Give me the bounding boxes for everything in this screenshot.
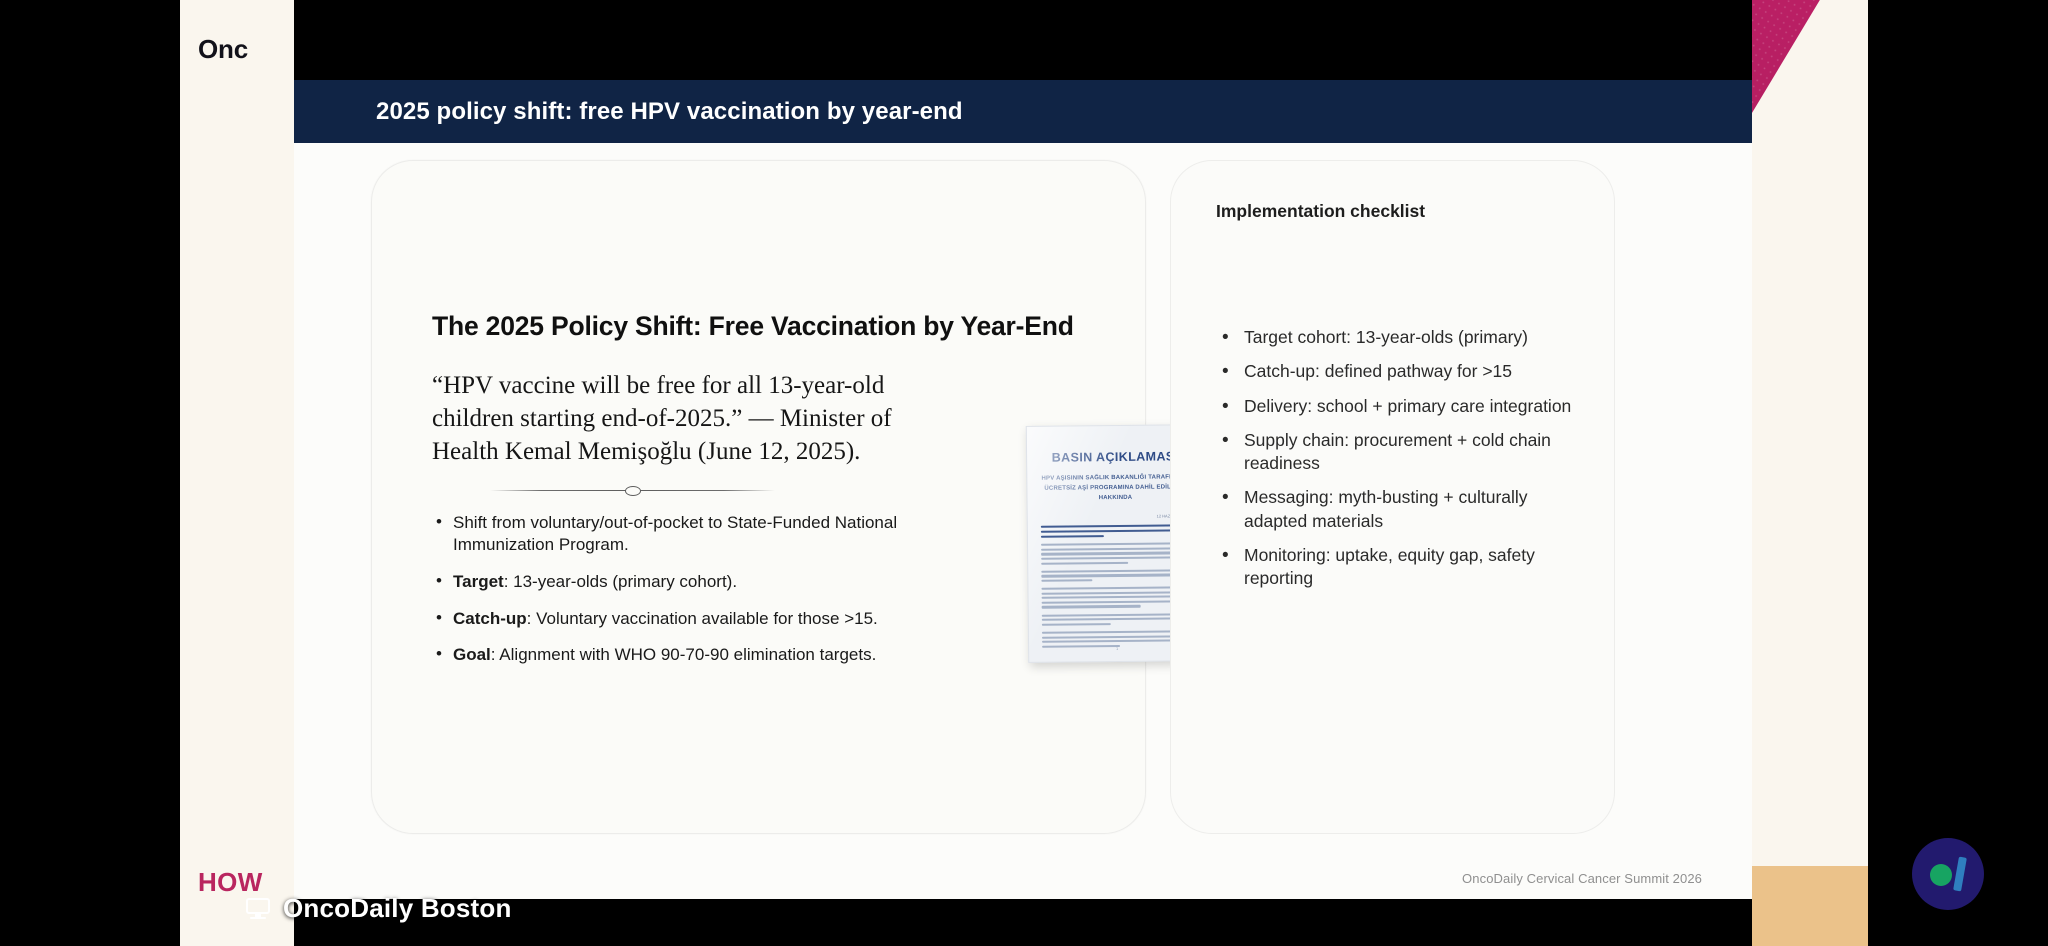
document-date: 12 HAZİRAN 2025 <box>1042 513 1190 520</box>
list-item: Catch-up: Voluntary vaccination availabl… <box>432 608 992 631</box>
list-item: Catch-up: defined pathway for >15 <box>1216 360 1576 383</box>
bullet-text: : 13-year-olds (primary cohort). <box>504 572 737 591</box>
list-item: Messaging: myth-busting + culturally ada… <box>1216 486 1576 533</box>
presentation-slide: 2025 policy shift: free HPV vaccination … <box>294 80 1752 899</box>
slide-footer-text: OncoDaily Cervical Cancer Summit 2026 <box>1462 871 1702 886</box>
list-item: Target: 13-year-olds (primary cohort). <box>432 571 992 594</box>
list-item: Delivery: school + primary care integrat… <box>1216 395 1576 418</box>
list-item: Monitoring: uptake, equity gap, safety r… <box>1216 544 1576 591</box>
oncodaily-logo-icon[interactable] <box>1912 838 1984 910</box>
participant-name-label: OncoDaily Boston <box>283 893 512 924</box>
left-bullet-list: Shift from voluntary/out-of-pocket to St… <box>432 512 992 667</box>
list-item: Goal: Alignment with WHO 90-70-90 elimin… <box>432 644 992 667</box>
slide-body: The 2025 Policy Shift: Free Vaccination … <box>294 143 1752 899</box>
bullet-label: Target <box>453 572 504 591</box>
letterbox-top <box>294 0 1752 80</box>
slide-header-title: 2025 policy shift: free HPV vaccination … <box>376 98 963 126</box>
list-item: Shift from voluntary/out-of-pocket to St… <box>432 512 992 557</box>
screen-share-stage: Onc HOW 2025 policy shift: free HPV vacc… <box>0 0 2048 946</box>
ornament-divider <box>490 486 775 496</box>
left-panel-title: The 2025 Policy Shift: Free Vaccination … <box>432 311 1105 343</box>
background-heading: Onc <box>198 34 248 65</box>
left-card-inner: The 2025 Policy Shift: Free Vaccination … <box>432 311 1105 681</box>
right-content-card: Implementation checklist Target cohort: … <box>1170 160 1615 834</box>
shared-screen-region[interactable]: 2025 policy shift: free HPV vaccination … <box>294 0 1752 946</box>
bullet-text: Shift from voluntary/out-of-pocket to St… <box>453 513 897 555</box>
bullet-label: Catch-up <box>453 609 527 628</box>
implementation-checklist-list: Target cohort: 13-year-olds (primary) Ca… <box>1216 326 1576 601</box>
left-content-card: The 2025 Policy Shift: Free Vaccination … <box>371 160 1146 834</box>
left-black-gutter <box>0 0 180 946</box>
list-item: Target cohort: 13-year-olds (primary) <box>1216 326 1576 349</box>
participant-name-overlay: OncoDaily Boston <box>246 893 512 924</box>
screen-share-icon <box>246 898 270 919</box>
bullet-text: : Alignment with WHO 90-70-90 eliminatio… <box>491 645 877 664</box>
policy-quote: “HPV vaccine will be free for all 13-yea… <box>432 369 927 468</box>
slide-header-bar: 2025 policy shift: free HPV vaccination … <box>294 80 1752 143</box>
bullet-label: Goal <box>453 645 491 664</box>
list-item: Supply chain: procurement + cold chain r… <box>1216 429 1576 476</box>
right-black-gutter <box>1868 0 2048 946</box>
right-panel-title: Implementation checklist <box>1216 201 1425 222</box>
bullet-text: : Voluntary vaccination available for th… <box>527 609 878 628</box>
letterbox-bottom <box>294 899 1752 946</box>
document-subtitle: HPV AŞISININ SAĞLIK BAKANLIĞI TARAFINDAN… <box>1041 473 1189 504</box>
